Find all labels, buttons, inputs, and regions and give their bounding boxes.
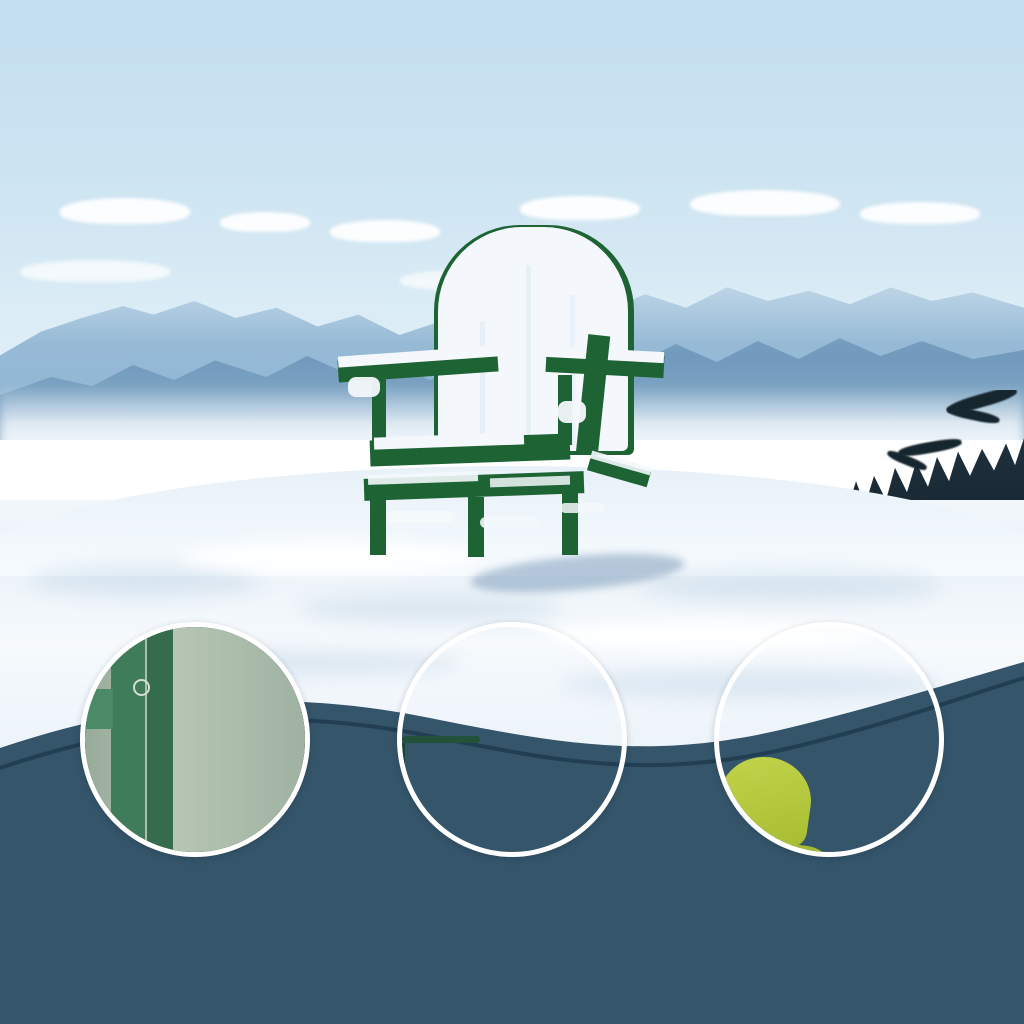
snowcap bbox=[220, 212, 310, 232]
chair-leg-front-right bbox=[562, 487, 578, 555]
sand-speck bbox=[402, 637, 406, 640]
snowcap bbox=[60, 198, 190, 224]
cloth-fold bbox=[714, 751, 817, 849]
snow-drift bbox=[30, 566, 260, 596]
inset-block bbox=[83, 689, 113, 729]
beach-chair-seam bbox=[402, 743, 405, 809]
cleaning-scene bbox=[719, 627, 939, 852]
snow-drift bbox=[300, 596, 560, 622]
snow-clump bbox=[348, 377, 380, 397]
chain-ring bbox=[133, 679, 150, 696]
chair-back-seam bbox=[526, 265, 531, 445]
hero-chair bbox=[330, 225, 670, 570]
snowcap bbox=[690, 190, 840, 216]
snowcap bbox=[20, 260, 170, 282]
beach-chair-seam bbox=[402, 809, 405, 857]
feature-image-rust-resistance bbox=[80, 622, 310, 857]
beach-chair-back bbox=[402, 640, 476, 736]
snowcap bbox=[860, 202, 980, 224]
feature-image-low-maintenance bbox=[714, 622, 944, 857]
snow-clump bbox=[480, 517, 538, 528]
snow-clump bbox=[558, 401, 586, 423]
snow-clump bbox=[560, 503, 604, 513]
rust-scene bbox=[85, 627, 305, 852]
snow-clump bbox=[386, 511, 456, 523]
chair-leg-front-left bbox=[370, 493, 386, 555]
inset-slat bbox=[111, 627, 145, 852]
beach-scene: UV Light bbox=[402, 627, 622, 852]
snow-drift bbox=[640, 570, 940, 602]
feature-image-fade-resistance: UV Light bbox=[397, 622, 627, 857]
infographic-canvas: UV Light WEATHER RESISTANCE bbox=[0, 0, 1024, 1024]
microfiber-cloth bbox=[714, 622, 924, 765]
chair-back-seam bbox=[480, 321, 485, 443]
inset-slat bbox=[147, 627, 173, 852]
snowcap bbox=[520, 196, 640, 220]
beach-chair-headrest bbox=[402, 736, 480, 743]
